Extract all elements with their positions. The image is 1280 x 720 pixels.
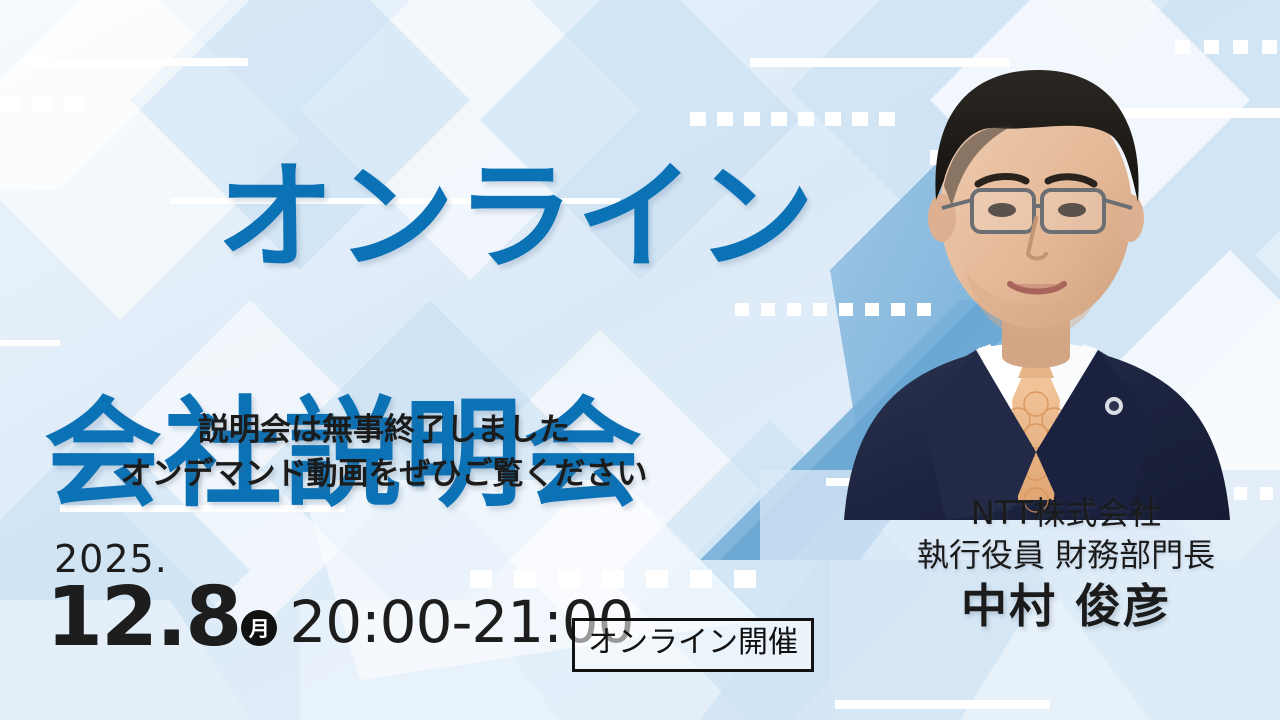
online-format-badge: オンライン開催 xyxy=(572,618,814,672)
webinar-banner: オンライン 会社説明会 説明会は無事終了しました オンデマンド動画をぜひご覧くだ… xyxy=(0,0,1280,720)
event-datetime: 2025. 12.8 月 20:00-21:00 xyxy=(46,540,634,655)
subtitle: 説明会は無事終了しました オンデマンド動画をぜひご覧ください xyxy=(0,408,768,496)
subtitle-line-1: 説明会は無事終了しました xyxy=(0,408,768,452)
day-of-week-badge: 月 xyxy=(241,610,277,646)
event-date: 12.8 xyxy=(46,580,240,655)
speaker-title: 執行役員 財務部門長 xyxy=(866,534,1266,576)
speaker-name: 中村 俊彦 xyxy=(866,578,1266,634)
speaker-portrait xyxy=(826,0,1246,520)
white-rule-bar xyxy=(835,700,1050,709)
speaker-info: NTT株式会社 執行役員 財務部門長 中村 俊彦 xyxy=(866,492,1266,635)
speaker-organization: NTT株式会社 xyxy=(866,492,1266,534)
headline-line-1: オンライン xyxy=(216,148,816,286)
subtitle-line-2: オンデマンド動画をぜひご覧ください xyxy=(0,452,768,496)
portrait-illustration xyxy=(826,0,1246,520)
event-day-line: 12.8 月 20:00-21:00 xyxy=(46,580,634,655)
